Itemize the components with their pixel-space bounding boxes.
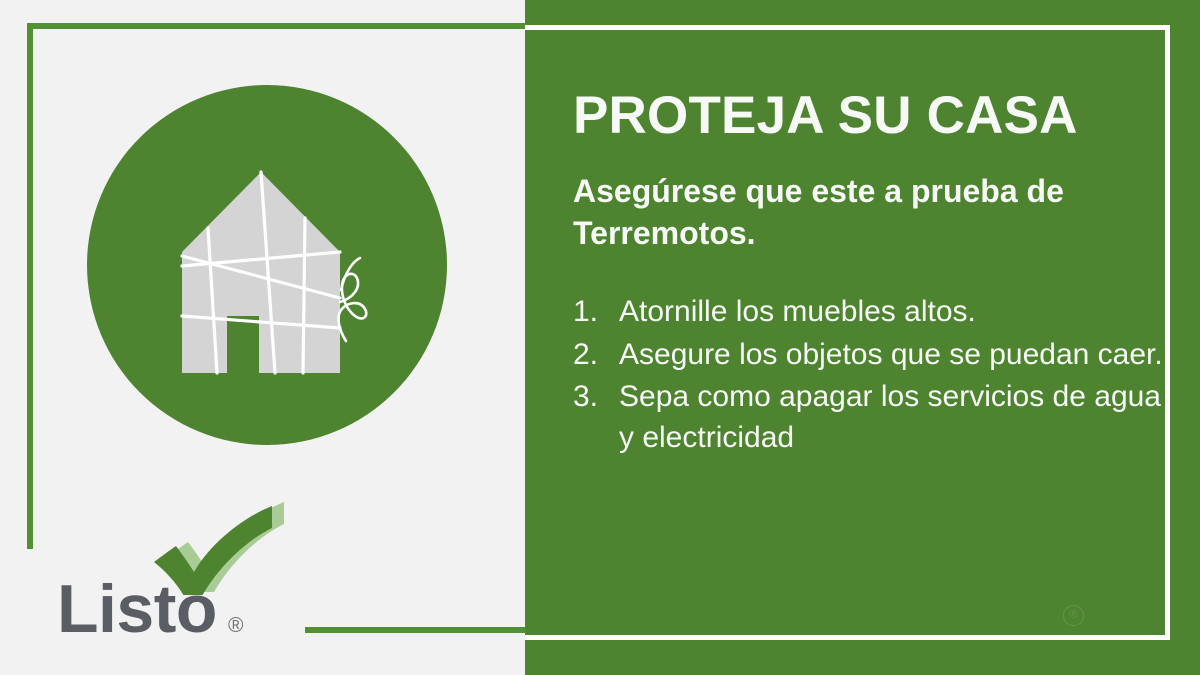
registered-trademark-icon: ® bbox=[228, 615, 243, 636]
step-text: Sepa como apagar los servicios de agua y… bbox=[619, 377, 1173, 458]
step-number: 3. bbox=[573, 377, 619, 418]
steps-list: 1. Atornille los muebles altos. 2. Asegu… bbox=[573, 292, 1173, 458]
brand-name: Listo bbox=[57, 575, 217, 643]
step-text: Asegure los objetos que se puedan caer. bbox=[619, 335, 1173, 376]
list-item: 3. Sepa como apagar los servicios de agu… bbox=[573, 377, 1173, 458]
step-text: Atornille los muebles altos. bbox=[619, 292, 1173, 333]
house-wrapped-with-string-icon bbox=[147, 130, 417, 400]
left-panel: Listo ® bbox=[0, 0, 525, 669]
step-number: 1. bbox=[573, 292, 619, 333]
frame-top-rule bbox=[27, 23, 525, 29]
poster: Listo ® PROTEJA SU CASA Asegúrese que es… bbox=[0, 0, 1200, 675]
right-panel: PROTEJA SU CASA Asegúrese que este a pru… bbox=[525, 0, 1200, 675]
list-item: 2. Asegure los objetos que se puedan cae… bbox=[573, 335, 1173, 376]
frame-left-rule bbox=[27, 23, 33, 549]
page-title: PROTEJA SU CASA bbox=[573, 88, 1173, 144]
frame-bottom-rule bbox=[305, 627, 525, 633]
step-number: 2. bbox=[573, 335, 619, 376]
list-item: 1. Atornille los muebles altos. bbox=[573, 292, 1173, 333]
brand-wordmark: Listo ® bbox=[57, 575, 243, 643]
panel-content: PROTEJA SU CASA Asegúrese que este a pru… bbox=[573, 88, 1173, 460]
watermark-registered-icon: ® bbox=[1063, 605, 1084, 626]
page-subtitle: Asegúrese que este a prueba de Terremoto… bbox=[573, 170, 1113, 254]
